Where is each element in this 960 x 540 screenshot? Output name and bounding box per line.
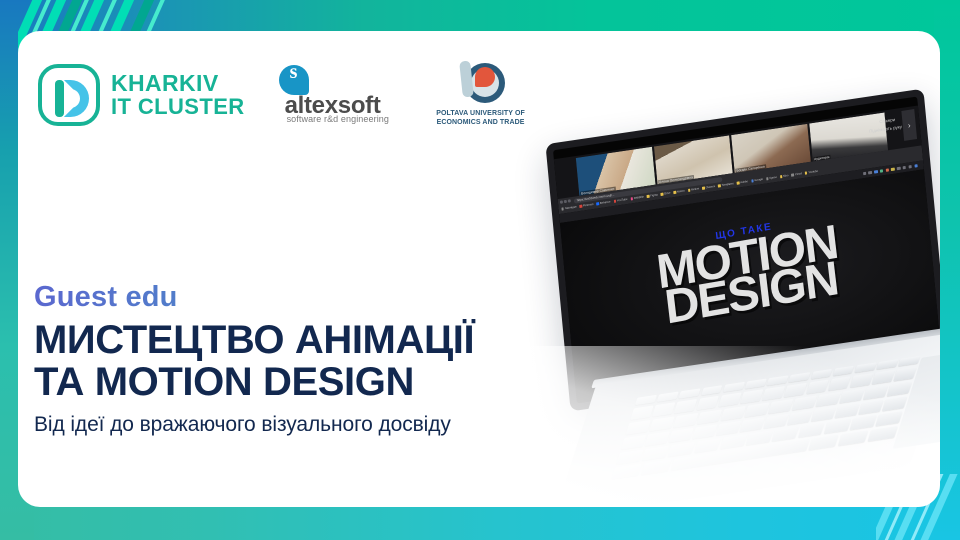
kharkiv-it-cluster-wordmark: KHARKIV IT CLUSTER — [111, 72, 245, 118]
bookmark-item[interactable]: Youtube — [805, 170, 818, 175]
kic-c-shape — [64, 80, 89, 117]
bookmark-item[interactable]: Google — [751, 178, 763, 183]
bookmark-item[interactable]: Miro — [780, 174, 789, 178]
poltava-p-icon — [455, 59, 507, 105]
laptop-keyboard[interactable] — [606, 356, 920, 495]
bookmark-item[interactable]: Adobe — [737, 180, 748, 185]
next-participants-button[interactable]: › — [901, 109, 917, 141]
page-subtitle: Від ідеї до вражаючого візуального досві… — [34, 413, 634, 437]
bookmark-item[interactable]: Закладки — [561, 205, 576, 210]
bookmark-item[interactable]: Notion — [673, 189, 684, 194]
altexsoft-tagline: software r&d engineering — [287, 114, 389, 124]
bookmark-item[interactable]: YouTube — [613, 198, 627, 203]
partner-logos-row: KHARKIV IT CLUSTER altexsoft software r&… — [38, 63, 533, 127]
title-line-1: МИСТЕЦТВО АНІМАЦІЇ — [34, 319, 634, 361]
bookmark-item[interactable]: Figma — [647, 193, 658, 198]
logo-kharkiv-it-cluster: KHARKIV IT CLUSTER — [38, 64, 245, 126]
toolbar-icon[interactable] — [897, 167, 901, 171]
toolbar-icon[interactable] — [903, 166, 907, 170]
kic-line-1: KHARKIV — [111, 72, 245, 95]
kic-line-2: IT CLUSTER — [111, 96, 245, 118]
toolbar-icon[interactable] — [914, 164, 918, 168]
bookmark-item[interactable]: Dribbble — [630, 196, 644, 201]
kharkiv-it-cluster-icon — [38, 64, 100, 126]
poltava-accent-shape — [475, 67, 495, 87]
bookmark-item[interactable]: Motion — [688, 187, 700, 192]
bookmark-item[interactable]: Курси — [766, 176, 777, 181]
kicker-label: Guest edu — [34, 281, 634, 314]
window-controls[interactable] — [560, 199, 571, 203]
logo-poltava-university: POLTAVA UNIVERSITY OF ECONOMICS AND TRAD… — [429, 63, 533, 127]
toolbar-icon[interactable] — [880, 169, 884, 173]
toolbar-icon[interactable] — [874, 170, 878, 174]
poltava-wordmark: POLTAVA UNIVERSITY OF ECONOMICS AND TRAD… — [429, 109, 533, 127]
bookmark-item[interactable]: Pinterest — [579, 203, 593, 208]
toolbar-icon[interactable] — [868, 171, 872, 175]
bookmark-item[interactable]: Classes — [702, 185, 715, 190]
bookmark-item[interactable]: Behance — [596, 200, 610, 205]
title-line-2: ТА MOTION DESIGN — [34, 361, 634, 403]
kic-bar-shape — [55, 80, 64, 117]
white-content-card: KHARKIV IT CLUSTER altexsoft software r&… — [18, 31, 940, 507]
bookmark-item[interactable]: Drive — [661, 192, 671, 196]
logo-altexsoft: altexsoft software r&d engineering — [271, 64, 403, 126]
toolbar-icon[interactable] — [891, 167, 895, 171]
bookmark-item[interactable]: Cloud — [791, 172, 802, 177]
toolbar-icon[interactable] — [908, 165, 912, 169]
toolbar-icon[interactable] — [863, 172, 867, 176]
toolbar-icon[interactable] — [885, 168, 889, 172]
poltava-line-2: ECONOMICS AND TRADE — [437, 119, 525, 126]
page-title: МИСТЕЦТВО АНІМАЦІЇ ТА MOTION DESIGN — [34, 319, 634, 404]
altexsoft-bubble-icon — [279, 65, 309, 95]
bookmark-item[interactable]: Templates — [718, 182, 734, 187]
poltava-stem-shape — [459, 61, 474, 98]
poltava-line-1: POLTAVA UNIVERSITY OF — [436, 110, 525, 117]
headline-block: Guest edu МИСТЕЦТВО АНІМАЦІЇ ТА MOTION D… — [34, 281, 634, 437]
